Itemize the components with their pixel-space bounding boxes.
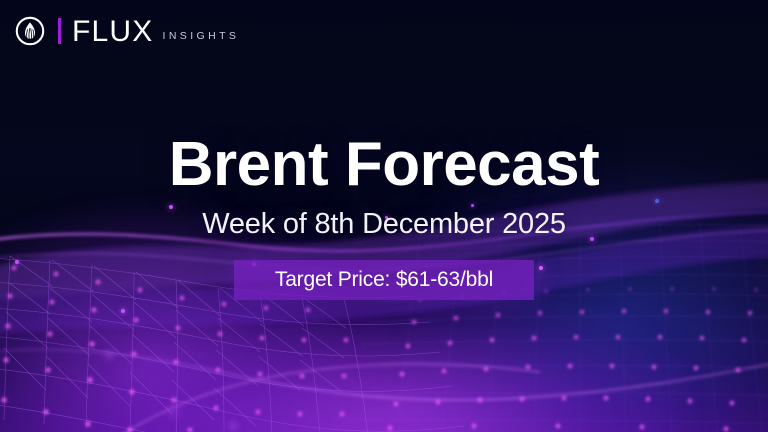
particle-dot (167, 404, 181, 418)
particle-dot (121, 309, 125, 313)
brand-tagline: INSIGHTS (163, 30, 240, 42)
target-price-badge-wrapper: Target Price: $61-63/bbl (0, 260, 768, 300)
particle-dot (104, 349, 115, 360)
page-subtitle: Week of 8th December 2025 (0, 210, 768, 239)
brand-logo[interactable]: FLUX INSIGHTS (14, 12, 239, 50)
flame-in-circle-icon (14, 15, 46, 47)
slide-canvas: FLUX INSIGHTS Brent Forecast Week of 8th… (0, 0, 768, 432)
hero-block: Brent Forecast Week of 8th December 2025… (0, 134, 768, 300)
particle-dot (228, 421, 238, 431)
brand-name: FLUX (72, 17, 154, 47)
logo-divider (58, 18, 61, 44)
page-title: Brent Forecast (0, 134, 768, 196)
target-price-badge: Target Price: $61-63/bbl (234, 260, 534, 300)
